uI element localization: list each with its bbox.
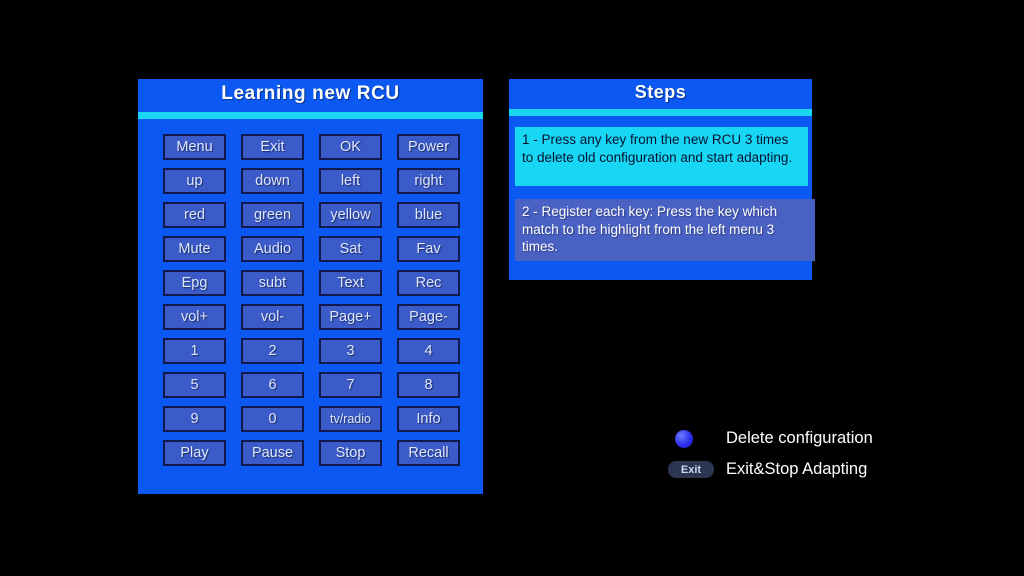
legend-item-delete-configuration: Delete configuration bbox=[672, 423, 932, 454]
page-title: Learning new RCU bbox=[138, 83, 483, 105]
rcu-key-fav[interactable]: Fav bbox=[397, 236, 460, 262]
rcu-key-ok[interactable]: OK bbox=[319, 134, 382, 160]
rcu-key-1[interactable]: 1 bbox=[163, 338, 226, 364]
rcu-key-tv-radio[interactable]: tv/radio bbox=[319, 406, 382, 432]
rcu-key-epg[interactable]: Epg bbox=[163, 270, 226, 296]
rcu-key-3[interactable]: 3 bbox=[319, 338, 382, 364]
rcu-key-recall[interactable]: Recall bbox=[397, 440, 460, 466]
rcu-key-info[interactable]: Info bbox=[397, 406, 460, 432]
rcu-key-vol[interactable]: vol+ bbox=[163, 304, 226, 330]
rcu-key-page[interactable]: Page- bbox=[397, 304, 460, 330]
rcu-key-text[interactable]: Text bbox=[319, 270, 382, 296]
rcu-key-mute[interactable]: Mute bbox=[163, 236, 226, 262]
rcu-key-play[interactable]: Play bbox=[163, 440, 226, 466]
rcu-key-menu[interactable]: Menu bbox=[163, 134, 226, 160]
rcu-key-left[interactable]: left bbox=[319, 168, 382, 194]
legend-icon-cell bbox=[672, 430, 720, 448]
rcu-key-sat[interactable]: Sat bbox=[319, 236, 382, 262]
blue-circle-icon bbox=[675, 430, 693, 448]
step-item-2: 2 - Register each key: Press the key whi… bbox=[515, 199, 815, 261]
rcu-key-subt[interactable]: subt bbox=[241, 270, 304, 296]
rcu-key-8[interactable]: 8 bbox=[397, 372, 460, 398]
rcu-key-up[interactable]: up bbox=[163, 168, 226, 194]
rcu-key-6[interactable]: 6 bbox=[241, 372, 304, 398]
title-divider bbox=[138, 112, 483, 119]
steps-panel: Steps 1 - Press any key from the new RCU… bbox=[509, 79, 812, 280]
legend-item-exit-stop-adapting: Exit Exit&Stop Adapting bbox=[672, 454, 932, 485]
rcu-key-pause[interactable]: Pause bbox=[241, 440, 304, 466]
rcu-key-7[interactable]: 7 bbox=[319, 372, 382, 398]
rcu-key-stop[interactable]: Stop bbox=[319, 440, 382, 466]
rcu-key-right[interactable]: right bbox=[397, 168, 460, 194]
rcu-key-red[interactable]: red bbox=[163, 202, 226, 228]
legend-label-delete-configuration: Delete configuration bbox=[726, 429, 873, 448]
rcu-key-vol[interactable]: vol- bbox=[241, 304, 304, 330]
learning-new-rcu-panel: Learning new RCU MenuExitOKPowerupdownle… bbox=[138, 79, 483, 494]
rcu-key-2[interactable]: 2 bbox=[241, 338, 304, 364]
steps-title: Steps bbox=[509, 82, 812, 103]
rcu-key-4[interactable]: 4 bbox=[397, 338, 460, 364]
rcu-key-rec[interactable]: Rec bbox=[397, 270, 460, 296]
legend: Delete configuration Exit Exit&Stop Adap… bbox=[672, 423, 932, 485]
rcu-key-blue[interactable]: blue bbox=[397, 202, 460, 228]
rcu-key-page[interactable]: Page+ bbox=[319, 304, 382, 330]
exit-key-badge-icon: Exit bbox=[668, 461, 714, 478]
rcu-key-audio[interactable]: Audio bbox=[241, 236, 304, 262]
legend-label-exit-stop-adapting: Exit&Stop Adapting bbox=[726, 460, 867, 479]
rcu-key-down[interactable]: down bbox=[241, 168, 304, 194]
steps-title-divider bbox=[509, 109, 812, 116]
rcu-key-9[interactable]: 9 bbox=[163, 406, 226, 432]
remote-key-grid: MenuExitOKPowerupdownleftrightredgreenye… bbox=[163, 134, 461, 466]
tv-screen: Learning new RCU MenuExitOKPowerupdownle… bbox=[0, 0, 1024, 576]
rcu-key-power[interactable]: Power bbox=[397, 134, 460, 160]
rcu-key-0[interactable]: 0 bbox=[241, 406, 304, 432]
rcu-key-5[interactable]: 5 bbox=[163, 372, 226, 398]
rcu-key-exit[interactable]: Exit bbox=[241, 134, 304, 160]
rcu-key-green[interactable]: green bbox=[241, 202, 304, 228]
legend-icon-cell: Exit bbox=[672, 461, 720, 478]
step-item-1: 1 - Press any key from the new RCU 3 tim… bbox=[515, 127, 808, 186]
rcu-key-yellow[interactable]: yellow bbox=[319, 202, 382, 228]
